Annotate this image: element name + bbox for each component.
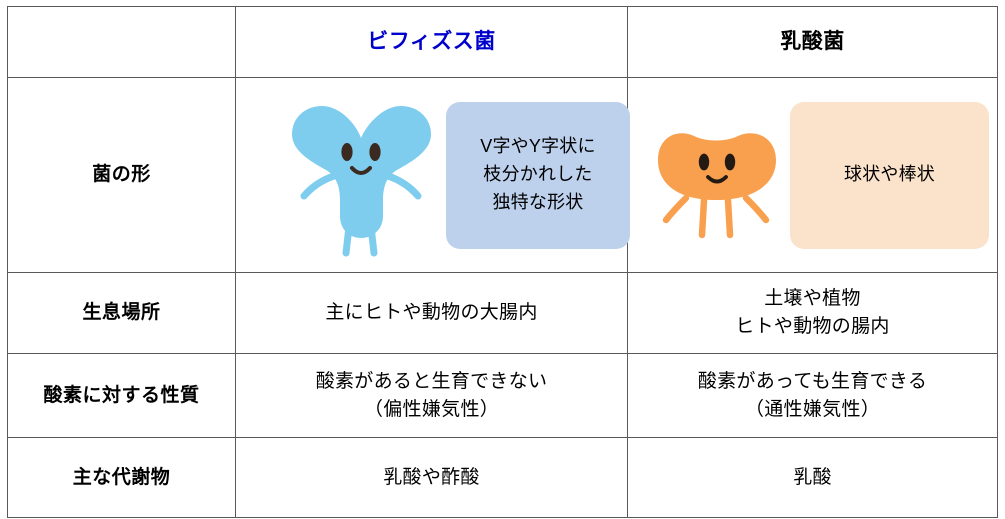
cell-lactobacillus-habitat: 土壌や植物 ヒトや動物の腸内 — [628, 273, 998, 354]
cell-bifidobacterium-metabolite: 乳酸や酢酸 — [236, 438, 628, 518]
comparison-table-sheet: ビフィズス菌 乳酸菌 菌の形 — [0, 0, 1005, 519]
lactobacillus-character-icon — [642, 100, 790, 250]
header-label-lactobacillus: 乳酸菌 — [780, 30, 845, 53]
cell-value-bifidobacterium-oxygen: 酸素があると生育できない （偏性嫌気性） — [236, 368, 627, 423]
bifidobacterium-character-icon — [278, 90, 446, 260]
lactobacillus-shape-callout: 球状や棒状 — [790, 102, 989, 249]
table-row: 菌の形 — [8, 78, 998, 273]
row-label-cell-oxygen: 酸素に対する性質 — [8, 354, 236, 438]
row-label-metabolite: 主な代謝物 — [73, 467, 171, 488]
row-label-cell-habitat: 生息場所 — [8, 273, 236, 354]
cell-value-bifidobacterium-metabolite: 乳酸や酢酸 — [236, 464, 627, 492]
cell-value-lactobacillus-habitat: 土壌や植物 ヒトや動物の腸内 — [628, 285, 997, 340]
table-row: 生息場所 主にヒトや動物の大腸内 土壌や植物 ヒトや動物の腸内 — [8, 273, 998, 354]
cell-lactobacillus-metabolite: 乳酸 — [628, 438, 998, 518]
cell-value-lactobacillus-oxygen: 酸素があっても生育できる （通性嫌気性） — [628, 368, 997, 423]
bifidobacterium-shape-callout: V字やY字状に 枝分かれした 独特な形状 — [446, 102, 630, 249]
bifidobacterium-shape-layout: V字やY字状に 枝分かれした 独特な形状 — [236, 78, 627, 272]
header-label-bifidobacterium: ビフィズス菌 — [367, 30, 496, 53]
row-label-cell-shape: 菌の形 — [8, 78, 236, 273]
lactobacillus-shape-layout: 球状や棒状 — [628, 78, 997, 272]
cell-bifidobacterium-oxygen: 酸素があると生育できない （偏性嫌気性） — [236, 354, 628, 438]
cell-bifidobacterium-habitat: 主にヒトや動物の大腸内 — [236, 273, 628, 354]
cell-value-lactobacillus-metabolite: 乳酸 — [628, 464, 997, 492]
row-label-shape: 菌の形 — [92, 164, 151, 185]
bifidobacterium-shape-content: V字やY字状に 枝分かれした 独特な形状 — [236, 78, 627, 272]
row-label-habitat: 生息場所 — [82, 302, 160, 323]
table-header-row: ビフィズス菌 乳酸菌 — [8, 7, 998, 78]
table-row: 酸素に対する性質 酸素があると生育できない （偏性嫌気性） 酸素があっても生育で… — [8, 354, 998, 438]
cell-lactobacillus-oxygen: 酸素があっても生育できる （通性嫌気性） — [628, 354, 998, 438]
lactobacillus-shape-content: 球状や棒状 — [628, 78, 997, 272]
bacteria-comparison-table: ビフィズス菌 乳酸菌 菌の形 — [7, 6, 998, 518]
cell-lactobacillus-shape: 球状や棒状 — [628, 78, 998, 273]
header-cell-bifidobacterium: ビフィズス菌 — [236, 7, 628, 78]
cell-bifidobacterium-shape: V字やY字状に 枝分かれした 独特な形状 — [236, 78, 628, 273]
table-row: 主な代謝物 乳酸や酢酸 乳酸 — [8, 438, 998, 518]
header-cell-lactobacillus: 乳酸菌 — [628, 7, 998, 78]
header-corner-cell — [8, 7, 236, 78]
cell-value-bifidobacterium-habitat: 主にヒトや動物の大腸内 — [236, 299, 627, 327]
row-label-cell-metabolite: 主な代謝物 — [8, 438, 236, 518]
row-label-oxygen: 酸素に対する性質 — [43, 385, 199, 406]
